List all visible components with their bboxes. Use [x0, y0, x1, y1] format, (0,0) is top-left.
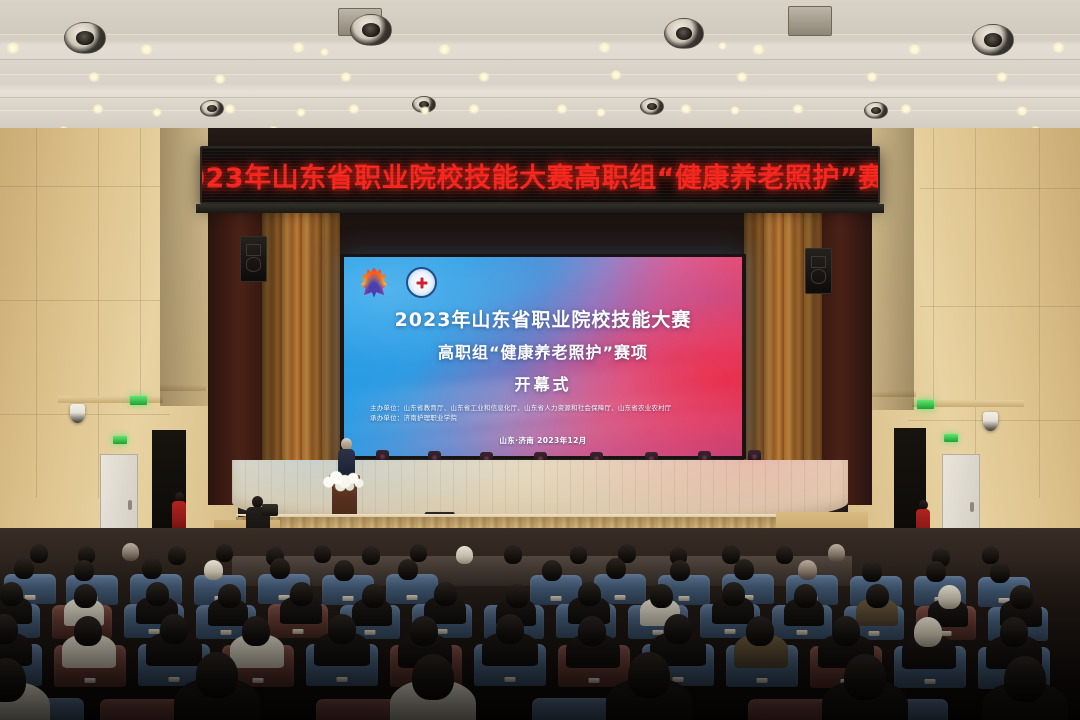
- audience-head: [926, 561, 946, 582]
- audience-head: [982, 546, 999, 564]
- audience-head: [146, 582, 169, 606]
- video-camera-icon: [262, 504, 278, 516]
- nursing-college-seal-icon: [406, 267, 437, 298]
- audience-head: [30, 544, 48, 563]
- seat-number-plate: [679, 596, 690, 601]
- audience-head: [410, 616, 438, 646]
- ceiling-speaker: [864, 102, 888, 119]
- ceiling-speaker: [664, 18, 704, 49]
- audience-head: [1004, 656, 1046, 702]
- audience-head: [456, 546, 473, 564]
- ceiling-downlight: [88, 72, 100, 82]
- audience-head: [776, 546, 793, 564]
- audience-head: [216, 544, 233, 562]
- seat-number-plate: [437, 629, 448, 634]
- audience-head: [542, 560, 562, 581]
- exit-sign-icon: [944, 434, 958, 442]
- audience-head: [204, 560, 223, 580]
- ceiling-downlight: [610, 70, 622, 80]
- audience-head: [196, 652, 238, 698]
- exit-sign-icon: [130, 396, 147, 405]
- wall-panel-seam: [36, 128, 37, 498]
- audience-head: [798, 560, 817, 580]
- seat-number-plate: [589, 678, 600, 683]
- ceiling-downlight: [908, 44, 921, 55]
- audience-head: [670, 560, 690, 581]
- stage-speaker-right: [805, 248, 832, 294]
- audience-head: [142, 558, 162, 579]
- stage-curtain-left: [262, 212, 340, 502]
- exit-sign-icon: [113, 436, 127, 444]
- seat-number-plate: [797, 630, 808, 635]
- ceiling-downlight: [730, 106, 740, 115]
- seat-number-plate: [85, 678, 96, 683]
- seat-number-plate: [869, 631, 880, 636]
- seat-number-plate: [365, 630, 376, 635]
- audience-head: [734, 559, 754, 580]
- wall-panel-seam: [0, 186, 160, 187]
- wall-panel-seam: [0, 414, 170, 415]
- audience-head: [14, 558, 34, 579]
- audience-head: [1010, 585, 1033, 609]
- security-camera-icon: [983, 412, 998, 431]
- led-banner: 2023年山东省职业院校技能大赛高职组“健康养老照护”赛项: [200, 146, 880, 204]
- flower-arrangement: [322, 470, 364, 492]
- audience-head: [866, 584, 889, 608]
- seat-number-plate: [407, 595, 418, 600]
- wall-panel-seam: [975, 128, 976, 498]
- audience-head: [334, 560, 354, 581]
- auditorium-scene: 2023年山东省职业院校技能大赛高职组“健康养老照护”赛项 2023年山东省职业…: [0, 0, 1080, 720]
- audience-head: [412, 654, 454, 700]
- screen-place-date: 山东·济南 2023年12月: [344, 435, 742, 446]
- audience-head: [328, 614, 356, 644]
- ceiling-downlight: [420, 106, 430, 115]
- ceiling-downlight: [140, 44, 153, 55]
- ceiling-air-vent: [788, 6, 832, 36]
- ceiling-downlight: [752, 44, 765, 55]
- ceiling-downlight: [6, 42, 20, 54]
- screen-title-line-3: 开幕式: [344, 371, 742, 395]
- audience-head: [398, 559, 418, 580]
- audience-head: [290, 582, 313, 606]
- audience-head: [314, 545, 331, 563]
- seat-number-plate: [221, 630, 232, 635]
- screen-logo-group: [360, 267, 437, 298]
- seat-number-plate: [253, 678, 264, 683]
- seat-number-plate: [925, 679, 936, 684]
- stage-led-screen: 2023年山东省职业院校技能大赛 高职组“健康养老照护”赛项 开幕式 主办单位：…: [344, 257, 742, 456]
- screen-organizer-block: 主办单位：山东省教育厅、山东省工业和信息化厅、山东省人力资源和社会保障厅、山东省…: [370, 403, 672, 423]
- competition-flame-emblem-icon: [360, 268, 388, 298]
- ceiling-downlight: [292, 42, 305, 53]
- audience-head: [746, 616, 774, 646]
- seat-number-plate: [293, 629, 304, 634]
- ceiling-speaker: [972, 24, 1014, 56]
- ceiling-downlight: [478, 72, 490, 82]
- screen-co-organizer-line: 承办单位：济南护理职业学院: [370, 413, 672, 423]
- audience-head: [74, 560, 94, 581]
- seat-number-plate: [169, 677, 180, 682]
- audience-head: [0, 582, 23, 606]
- ceiling-speaker: [640, 98, 664, 115]
- audience-head: [434, 582, 457, 606]
- audience-head: [160, 614, 188, 644]
- audience-head: [122, 543, 139, 561]
- audience-head: [794, 584, 817, 608]
- audience-head: [650, 584, 673, 608]
- seat-number-plate: [505, 677, 516, 682]
- ceiling-downlight: [348, 104, 360, 114]
- ceiling-downlight: [224, 104, 236, 114]
- audience-head: [628, 652, 670, 698]
- seat-number-plate: [725, 629, 736, 634]
- audience-head: [578, 616, 606, 646]
- ceiling-speaker: [200, 100, 224, 117]
- ceiling-downlight: [214, 74, 226, 84]
- audience-head: [862, 561, 882, 582]
- security-camera-icon: [70, 404, 85, 423]
- ceiling-downlight: [92, 104, 104, 114]
- ceiling-downlight: [438, 44, 451, 55]
- audience-head: [606, 558, 626, 579]
- seat-number-plate: [615, 595, 626, 600]
- ceiling-downlight: [320, 48, 329, 56]
- ceiling-downlight: [598, 42, 611, 53]
- audience-head: [570, 546, 587, 564]
- ceiling-band-middle: [0, 74, 1080, 98]
- audience-head: [362, 546, 380, 565]
- audience-head: [914, 617, 942, 647]
- audience-head: [990, 562, 1010, 583]
- ceiling-downlight: [556, 104, 568, 114]
- ceiling-downlight: [296, 108, 306, 117]
- ceiling-downlight: [866, 72, 878, 82]
- screen-title-line-2: 高职组“健康养老照护”赛项: [344, 339, 742, 363]
- seat-number-plate: [343, 596, 354, 601]
- wall-step-ledge: [58, 396, 163, 403]
- audience-head: [504, 545, 522, 564]
- stage-speaker-left: [240, 236, 267, 282]
- audience-head: [664, 614, 692, 644]
- audience-head: [74, 616, 102, 646]
- audience-head: [362, 584, 385, 608]
- ceiling-downlight: [596, 108, 606, 117]
- seat-number-plate: [337, 677, 348, 682]
- ceiling-downlight: [1016, 106, 1028, 116]
- audience-head: [938, 585, 961, 609]
- ceiling-downlight: [996, 72, 1008, 82]
- ceiling-downlight: [152, 108, 162, 117]
- audience-head: [578, 582, 601, 606]
- seat-number-plate: [757, 678, 768, 683]
- screen-organizer-line: 主办单位：山东省教育厅、山东省工业和信息化厅、山东省人力资源和社会保障厅、山东省…: [370, 403, 672, 413]
- seat-number-plate: [551, 596, 562, 601]
- audience-head: [74, 584, 97, 608]
- ceiling-downlight: [736, 72, 748, 82]
- ceiling-downlight: [340, 72, 352, 82]
- curtain-shading: [262, 212, 340, 502]
- ceiling-downlight: [900, 104, 912, 114]
- audience-head: [1000, 617, 1028, 647]
- wall-panel-seam: [98, 128, 99, 498]
- audience-head: [496, 614, 524, 644]
- audience-head: [722, 582, 745, 606]
- audience-head: [270, 558, 290, 579]
- audience-head: [828, 544, 845, 562]
- wall-panel-seam: [933, 128, 934, 400]
- ceiling-speaker: [64, 22, 106, 54]
- ceiling-downlight: [792, 104, 804, 114]
- audience-head: [832, 616, 860, 646]
- ceiling-downlight: [468, 104, 480, 114]
- wall-panel-seam: [0, 300, 160, 301]
- ceiling-downlight: [1052, 42, 1065, 53]
- ceiling-speaker: [350, 14, 392, 46]
- audience-head: [506, 584, 529, 608]
- wall-panel-seam: [140, 128, 141, 398]
- led-banner-frame: [196, 204, 884, 213]
- led-banner-text: 2023年山东省职业院校技能大赛高职组“健康养老照护”赛项: [200, 156, 880, 195]
- staff-member-red-left: [172, 492, 186, 532]
- screen-title-block: 2023年山东省职业院校技能大赛 高职组“健康养老照护”赛项 开幕式: [344, 305, 742, 395]
- audience-head: [242, 616, 270, 646]
- seat-number-plate: [941, 631, 952, 636]
- audience-head: [844, 654, 886, 700]
- audience-head: [218, 584, 241, 608]
- wall-panel-seam: [920, 188, 1080, 189]
- stage-led-screen-frame: 2023年山东省职业院校技能大赛 高职组“健康养老照护”赛项 开幕式 主办单位：…: [340, 254, 746, 459]
- wall-panel-seam: [920, 306, 1080, 307]
- ceiling-downlight: [680, 104, 692, 114]
- audience-head: [168, 546, 186, 565]
- screen-title-line-1: 2023年山东省职业院校技能大赛: [344, 305, 742, 332]
- ceiling-downlight: [718, 42, 727, 50]
- exit-sign-icon: [917, 400, 934, 409]
- wall-panel-seam: [1039, 128, 1040, 498]
